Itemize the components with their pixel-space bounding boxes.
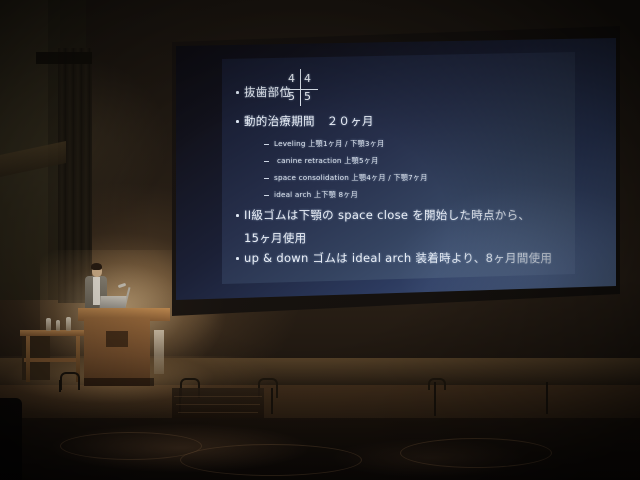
extraction-vertical-line xyxy=(300,69,301,106)
step-edge-2 xyxy=(176,404,260,405)
glass-stand xyxy=(154,330,164,374)
bullet-3-text: II級ゴムは下顎の space close を開始した時点から、 xyxy=(244,207,530,223)
stage-handrail-3-post xyxy=(271,388,273,414)
bullet-dot-4 xyxy=(236,257,239,260)
bullet-dot-2 xyxy=(236,120,239,123)
presenter-shirt xyxy=(93,277,100,305)
sub-dash-1 xyxy=(264,144,269,145)
stage-handrail-5-post xyxy=(546,382,548,414)
sub-dash-3 xyxy=(264,178,269,179)
bottle-1 xyxy=(46,318,51,331)
wall-trim-top xyxy=(36,52,92,64)
carpet-pattern-2 xyxy=(180,444,362,476)
photo-scene: 抜歯部位 4 4 5 5 動的治療期間 ２０ヶ月 Leveling 上顎1ヶ月 … xyxy=(0,0,640,480)
carpet-pattern-1 xyxy=(60,432,202,460)
extraction-upper-left: 4 xyxy=(304,72,311,85)
sub-dash-2 xyxy=(264,161,269,162)
bottle-3 xyxy=(66,317,71,331)
podium-shadow xyxy=(84,378,154,386)
sub-bullet-4-text: ideal arch 上下顎 8ヶ月 xyxy=(274,190,358,200)
sub-bullet-1-text: Leveling 上顎1ヶ月 / 下顎3ヶ月 xyxy=(274,139,384,149)
stage-handrail-1 xyxy=(60,372,80,390)
bullet-1-text: 抜歯部位 xyxy=(244,84,291,100)
step-edge-3 xyxy=(178,412,258,413)
podium xyxy=(84,318,150,386)
carpet-pattern-3 xyxy=(400,438,552,468)
foreground-seat xyxy=(0,398,22,480)
bullet-4-text: up & down ゴムは ideal arch 装着時より、8ヶ月間使用 xyxy=(244,250,552,266)
podium-notch xyxy=(106,331,128,347)
extraction-lower-right: 5 xyxy=(288,90,295,103)
stage-handrail-1-post xyxy=(59,380,61,392)
sub-bullet-2-text: canine retraction 上顎5ヶ月 xyxy=(277,156,379,166)
stage-handrail-4 xyxy=(428,378,446,390)
presentation-slide: 抜歯部位 4 4 5 5 動的治療期間 ２０ヶ月 Leveling 上顎1ヶ月 … xyxy=(222,52,575,284)
extraction-lower-left: 5 xyxy=(304,90,311,103)
bullet-2-text: 動的治療期間 ２０ヶ月 xyxy=(244,113,374,129)
step-edge-1 xyxy=(174,396,262,397)
bullet-dot-1 xyxy=(236,91,239,94)
bullet-dot-3 xyxy=(236,214,239,217)
bottle-2 xyxy=(56,320,60,331)
side-table-shelf xyxy=(24,358,80,362)
stage-steps xyxy=(172,388,264,422)
sub-dash-4 xyxy=(264,195,269,196)
presenter-hair xyxy=(91,263,102,270)
bullet-3-continuation: 15ヶ月使用 xyxy=(244,230,306,246)
side-table-leg-left xyxy=(26,336,30,382)
sub-bullet-3-text: space consolidation 上顎4ヶ月 / 下顎7ヶ月 xyxy=(274,173,428,183)
extraction-upper-right: 4 xyxy=(288,72,295,85)
